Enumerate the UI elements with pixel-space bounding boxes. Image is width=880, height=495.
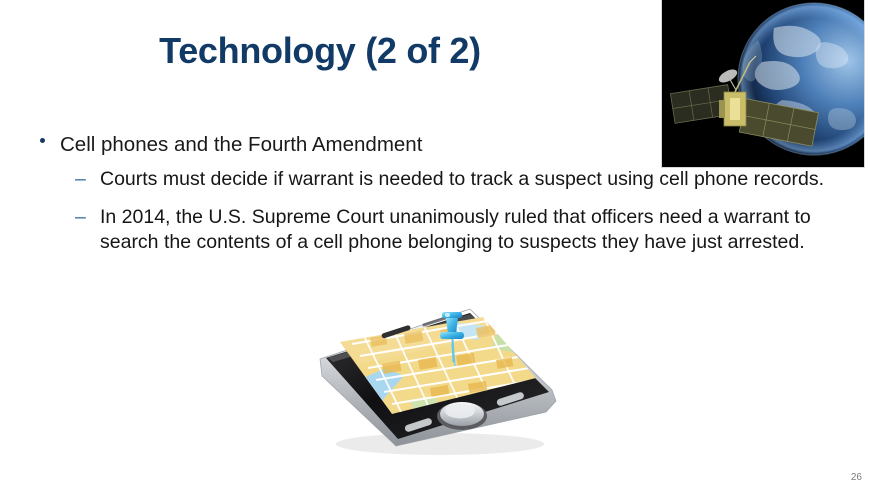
page-number: 26: [851, 472, 862, 483]
smartphone-image-graphic: [300, 304, 568, 462]
smartphone-map-pin-photo: [300, 304, 568, 462]
bullet-level2: – In 2014, the U.S. Supreme Court unanim…: [34, 205, 844, 257]
bullet-text: Courts must decide if warrant is needed …: [100, 168, 824, 190]
bullet-text: In 2014, the U.S. Supreme Court unanimou…: [100, 206, 811, 254]
bullet-dot-icon: [40, 138, 45, 143]
bullet-text: Cell phones and the Fourth Amendment: [60, 133, 422, 156]
bullet-level2: – Courts must decide if warrant is neede…: [34, 167, 844, 193]
bullet-list: Cell phones and the Fourth Amendment – C…: [34, 132, 844, 268]
slide: Technology (2 of 2): [0, 0, 880, 495]
bullet-level1: Cell phones and the Fourth Amendment: [34, 132, 844, 158]
page-title: Technology (2 of 2): [0, 30, 640, 72]
bullet-dash-icon: –: [75, 205, 86, 231]
bullet-dash-icon: –: [75, 167, 86, 193]
